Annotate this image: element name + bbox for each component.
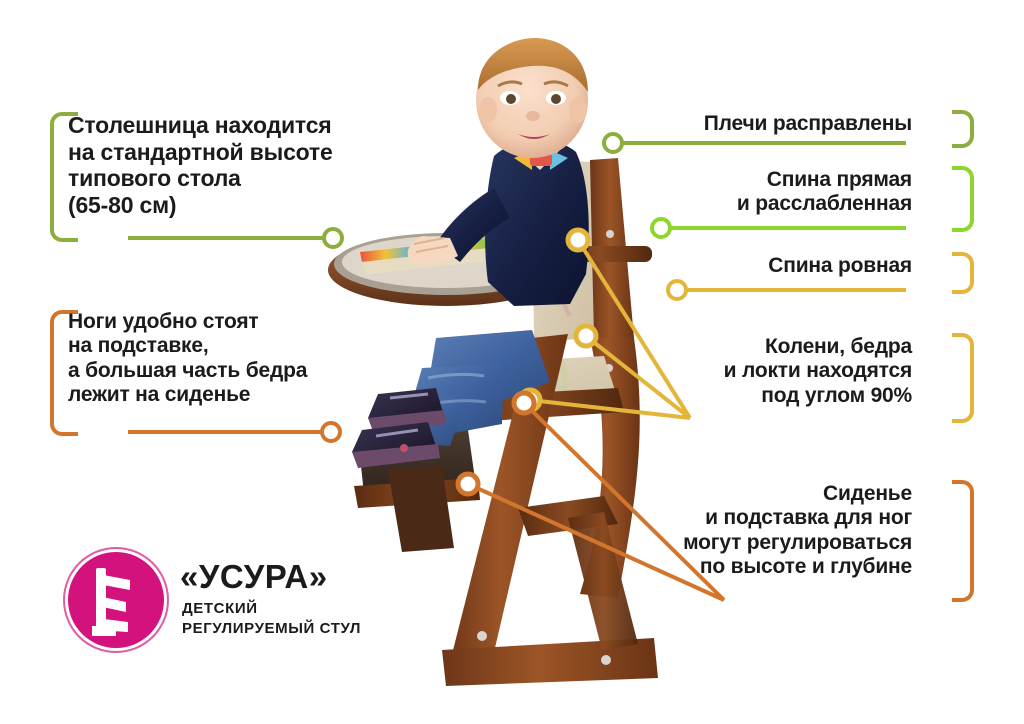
callout-back-even: Спина ровная: [700, 254, 926, 278]
callout-knees-hips-elbows: Колени, бедра и локти находятся под угло…: [672, 335, 926, 408]
connector-endpoint-feet: [322, 423, 340, 441]
logo-circle-mark: [68, 552, 164, 648]
callout-line: на стандартной высоте: [68, 139, 338, 166]
connector-endpoint-hip: [576, 326, 596, 346]
connector-endpoint-back-even: [668, 281, 686, 299]
connector-endpoint-shoulders: [604, 134, 622, 152]
callout-line: типового стола: [68, 165, 338, 192]
connector-endpoint-elbow: [568, 230, 588, 250]
callout-tabletop-height: Столешница находится на стандартной высо…: [54, 112, 338, 219]
logo-brand-name: «УСУРА»: [180, 558, 328, 596]
callout-line: под углом 90%: [672, 384, 912, 408]
callout-line: по высоте и глубине: [650, 555, 912, 579]
callout-feet-support: Ноги удобно стоят на подставке, а больша…: [54, 310, 348, 407]
callout-line: Столешница находится: [68, 112, 338, 139]
callout-line: Ноги удобно стоят: [68, 310, 348, 334]
callout-line: Плечи расправлены: [700, 112, 912, 136]
callout-back-straight-relaxed: Спина прямая и расслабленная: [680, 168, 926, 217]
callout-line: и локти находятся: [672, 359, 912, 383]
callout-line: (65-80 см): [68, 192, 338, 219]
callout-line: и подставка для ног: [650, 506, 912, 530]
callout-line: могут регулироваться: [650, 531, 912, 555]
infographic-canvas: Столешница находится на стандартной высо…: [0, 0, 1024, 724]
logo-subtitle-line2: РЕГУЛИРУЕМЫЙ СТУЛ: [182, 620, 361, 637]
callout-seat-footrest-adjustable: Сиденье и подставка для ног могут регули…: [650, 482, 926, 579]
connector-endpoint-tabletop: [324, 229, 342, 247]
connector-endpoint-footrest-adjust: [458, 474, 478, 494]
callout-line: лежит на сиденье: [68, 383, 348, 407]
callout-line: и расслабленная: [680, 192, 912, 216]
callout-line: Спина ровная: [700, 254, 912, 278]
callout-shoulders: Плечи расправлены: [700, 112, 926, 136]
callout-line: Сиденье: [650, 482, 912, 506]
brand-logo: «УСУРА» ДЕТСКИЙ РЕГУЛИРУЕМЫЙ СТУЛ: [60, 548, 370, 658]
connector-knee: [530, 400, 690, 418]
logo-subtitle-line1: ДЕТСКИЙ: [182, 600, 258, 617]
chair-pictogram-icon: [68, 552, 164, 648]
callout-line: на подставке,: [68, 334, 348, 358]
callout-line: а большая часть бедра: [68, 359, 348, 383]
connector-endpoint-seat-adjust: [514, 393, 534, 413]
connector-endpoint-back-relaxed: [652, 219, 670, 237]
callout-line: Спина прямая: [680, 168, 912, 192]
callout-line: Колени, бедра: [672, 335, 912, 359]
